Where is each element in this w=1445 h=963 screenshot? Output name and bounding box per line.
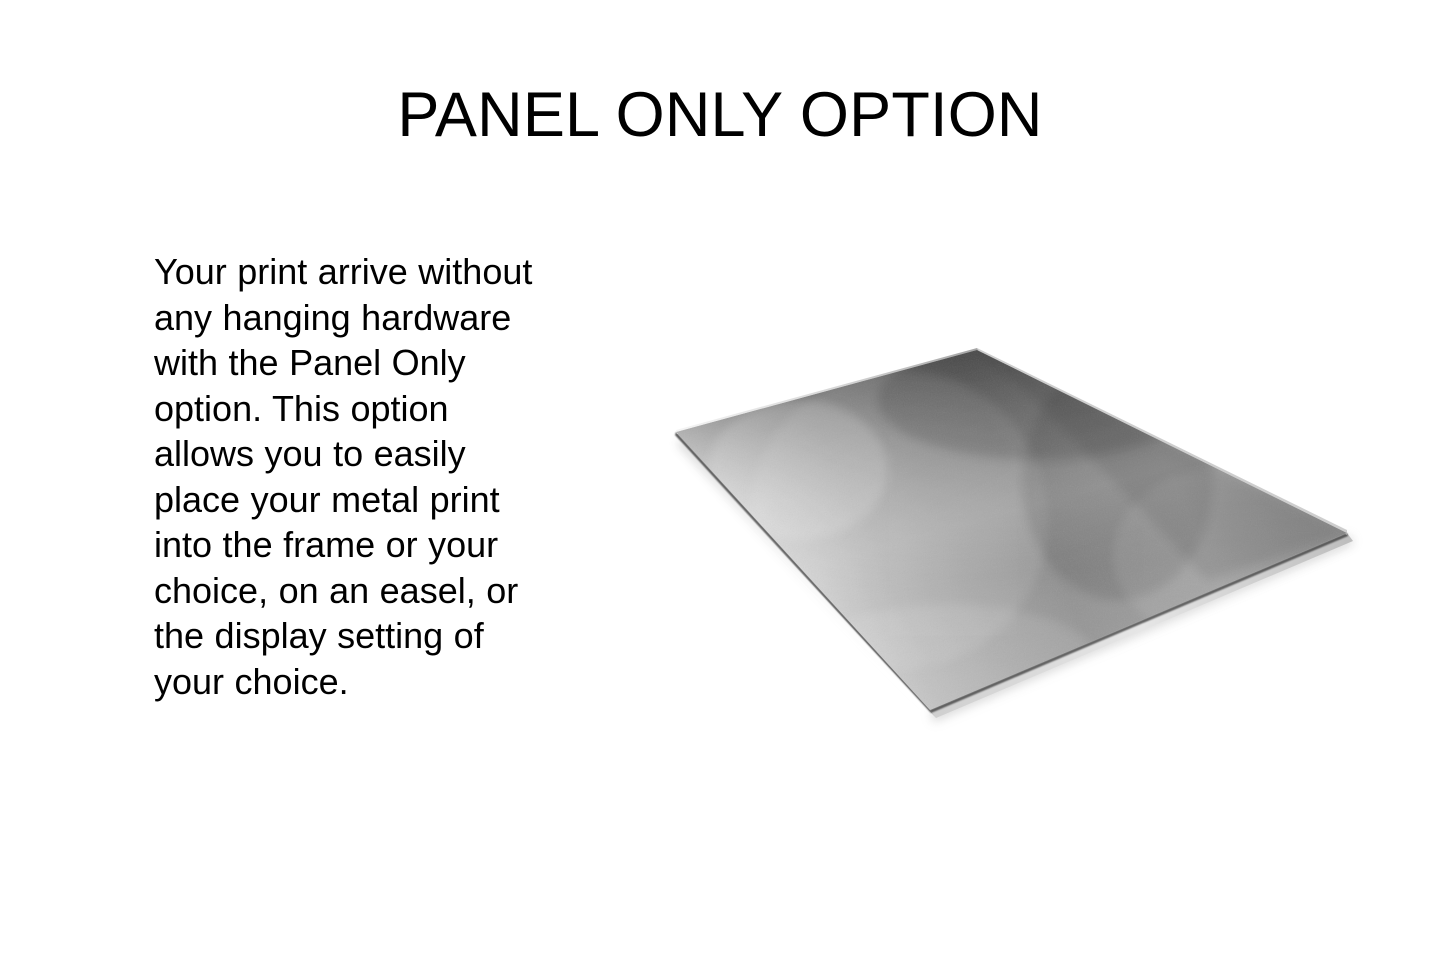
metal-panel-illustration [648, 330, 1373, 735]
page-title-text: PANEL ONLY OPTION [397, 78, 1042, 152]
page-title: PANEL ONLY OPTION [0, 78, 1444, 152]
slide-canvas: PANEL ONLY OPTION Your print arrive with… [0, 0, 1445, 963]
panel-top-surface [648, 330, 1373, 735]
body-paragraph: Your print arrive without any hanging ha… [154, 249, 558, 704]
metal-panel-figure [648, 330, 1373, 735]
